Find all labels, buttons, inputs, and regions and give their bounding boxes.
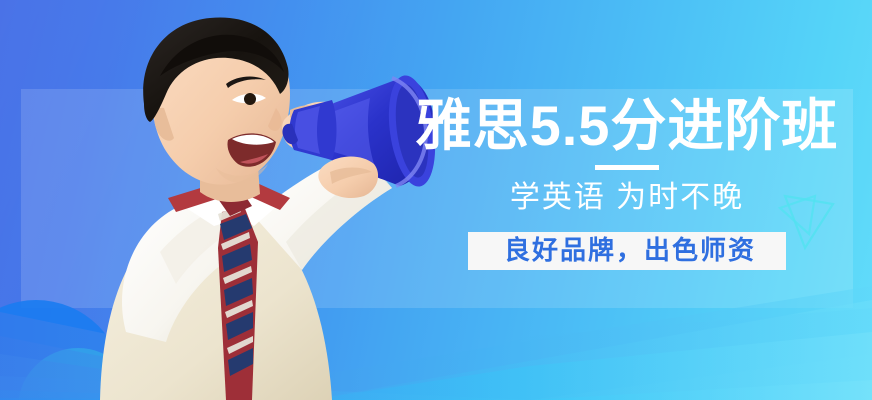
- title-divider: [595, 165, 659, 170]
- badge-wrapper: 良好品牌，出色师资: [412, 232, 842, 270]
- tagline-badge: 良好品牌，出色师资: [468, 232, 786, 270]
- promo-banner: 雅思5.5分进阶班 学英语 为时不晚 良好品牌，出色师资: [0, 0, 872, 400]
- headline: 雅思5.5分进阶班: [412, 96, 842, 156]
- subheadline: 学英语 为时不晚: [412, 178, 842, 216]
- divider-wrapper: [412, 156, 842, 178]
- copy-block: 雅思5.5分进阶班 学英语 为时不晚 良好品牌，出色师资: [412, 96, 842, 270]
- presenter-photo: [40, 12, 440, 400]
